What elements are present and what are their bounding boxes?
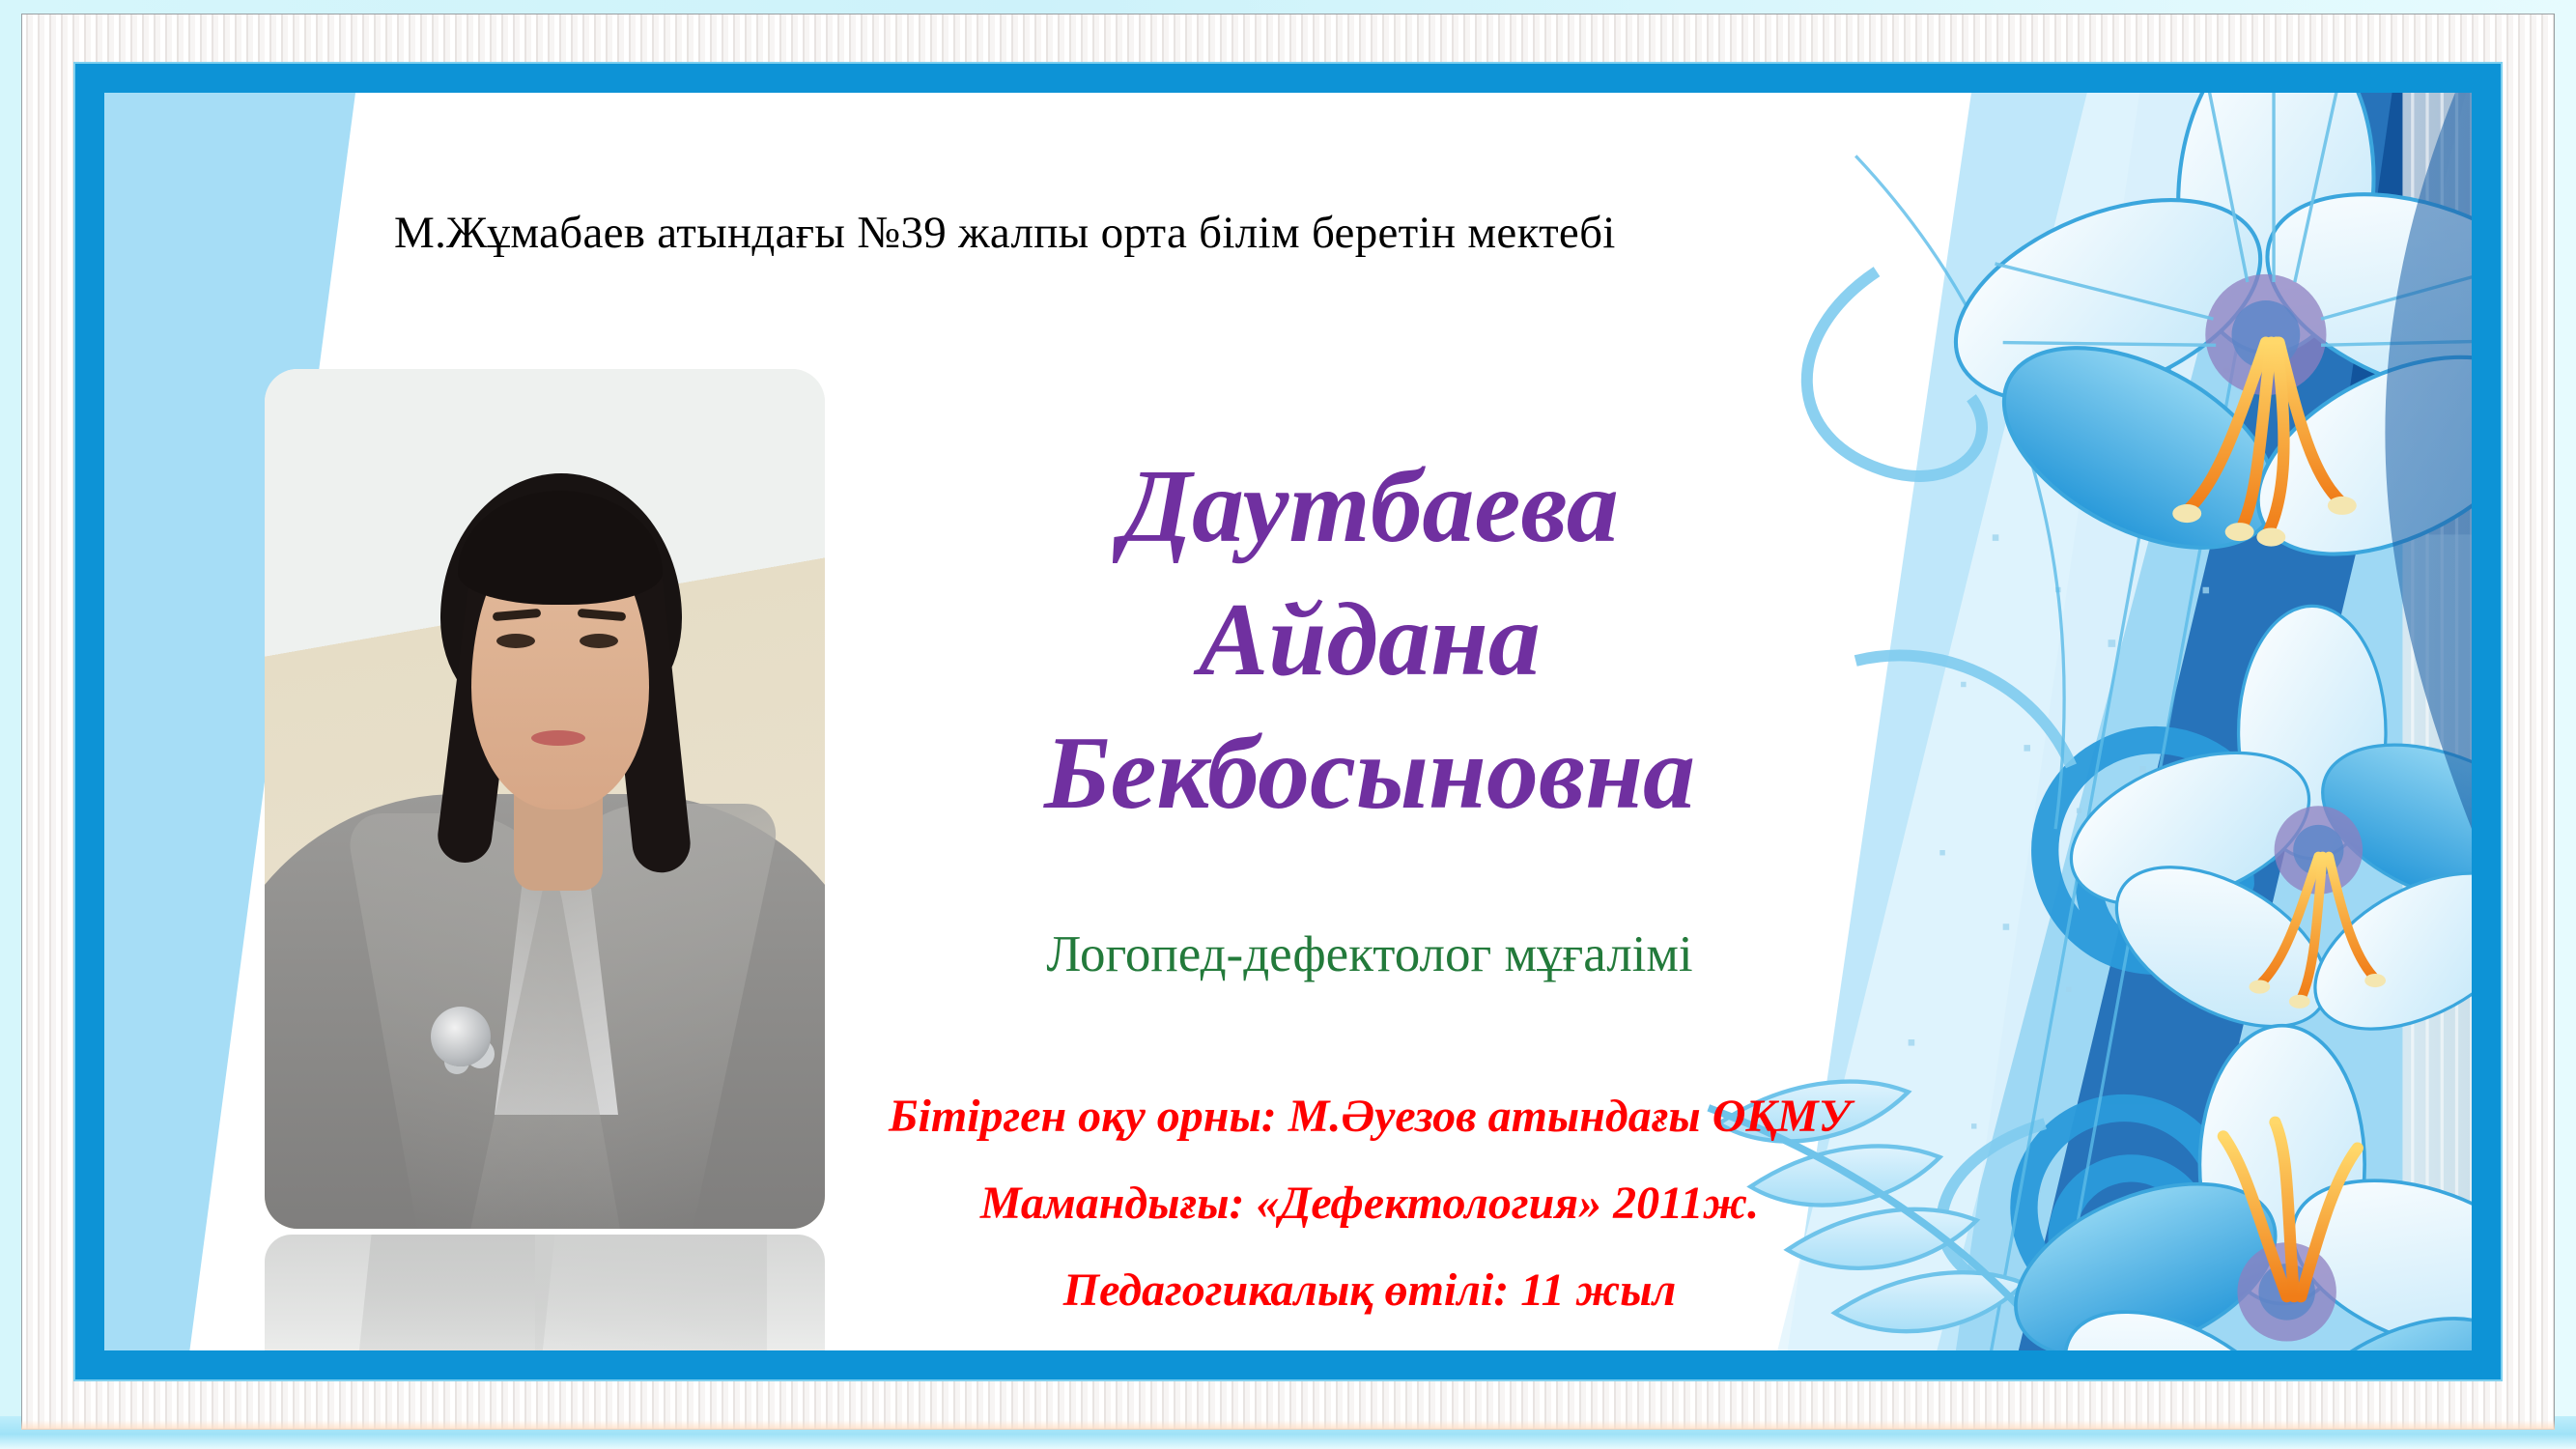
photo-eye-right xyxy=(580,634,618,648)
avatar xyxy=(265,369,825,1229)
fact-category: Санаты: педагог-сарапшы xyxy=(780,1335,1959,1350)
fact-experience: Педагогикалық өтілі: 11 жыл xyxy=(780,1247,1959,1334)
page-title: М.Жұмабаев атындағы №39 жалпы орта білім… xyxy=(394,207,2094,259)
slide-canvas: М.Жұмабаев атындағы №39 жалпы орта білім… xyxy=(0,0,2576,1449)
teacher-surname: Даутбаева xyxy=(838,440,1901,574)
photo-brooch xyxy=(431,1007,491,1066)
teacher-photo xyxy=(265,369,825,1229)
teacher-first-name: Айдана xyxy=(838,574,1901,707)
photo-reflection xyxy=(265,1235,825,1350)
fact-specialty: Мамандығы: «Дефектология» 2011ж. xyxy=(780,1160,1959,1247)
teacher-patronymic: Бекбосыновна xyxy=(838,707,1901,840)
photo-lips xyxy=(531,730,585,746)
teacher-facts-block: Бітірген оқу орны: М.Әуезов атындағы ОҚМ… xyxy=(780,1073,1959,1350)
photo-eye-left xyxy=(496,634,535,648)
teacher-name-block: Даутбаева Айдана Бекбосыновна xyxy=(838,440,1901,841)
slide-card: М.Жұмабаев атындағы №39 жалпы орта білім… xyxy=(104,93,2472,1350)
teacher-role: Логопед-дефектолог мұғалімі xyxy=(838,925,1901,983)
fact-education: Бітірген оқу орны: М.Әуезов атындағы ОҚМ… xyxy=(780,1073,1959,1160)
